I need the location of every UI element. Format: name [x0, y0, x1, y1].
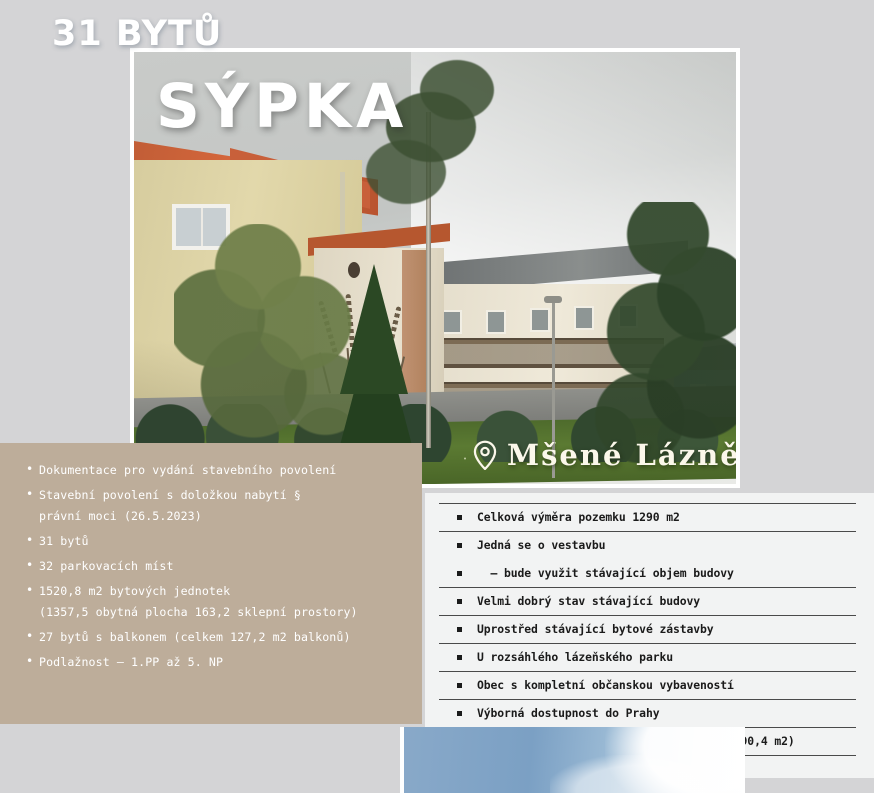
birch-canopy — [366, 140, 446, 204]
feature-text: Obec s kompletní občanskou vybaveností — [477, 678, 734, 692]
page-title: SÝPKA — [156, 76, 408, 137]
photo-card: SÝPKA Mšené Lázně — [130, 48, 740, 488]
bullet-text: Stavební povolení s doložkou nabytí § — [39, 488, 301, 502]
bullet-text: 32 parkovacích míst — [39, 559, 174, 573]
bullet-text: 31 bytů — [39, 534, 89, 548]
list-item-continuation: právní moci (26.5.2023) — [26, 507, 408, 526]
building-window — [486, 310, 506, 334]
building-window — [530, 308, 550, 332]
bullet-continuation-text: právní moci (26.5.2023) — [39, 509, 202, 523]
summary-panel: Dokumentace pro vydání stavebního povole… — [0, 443, 422, 724]
street-lamp-head — [544, 296, 562, 303]
list-item-continuation: (1357,5 obytná plocha 163,2 sklepní pros… — [26, 603, 408, 622]
table-row: Obec s kompletní občanskou vybaveností — [439, 671, 856, 699]
list-item: 27 bytů s balkonem (celkem 127,2 m2 balk… — [26, 628, 408, 647]
location-label: Mšené Lázně — [472, 438, 736, 472]
right-tree — [552, 202, 736, 472]
table-row: U rozsáhlého lázeňského parku — [439, 643, 856, 671]
list-item: 31 bytů — [26, 532, 408, 551]
table-row: – bude využit stávající objem budovy — [439, 559, 856, 587]
property-photo: SÝPKA Mšené Lázně — [134, 52, 736, 484]
bullet-text: Podlažnost – 1.PP až 5. NP — [39, 655, 223, 669]
feature-text: – bude využit stávající objem budovy — [477, 566, 734, 580]
conifer-tree — [340, 264, 408, 394]
list-item: 1520,8 m2 bytových jednotek — [26, 582, 408, 601]
table-row: Velmi dobrý stav stávající budovy — [439, 587, 856, 615]
list-item: Stavební povolení s doložkou nabytí § — [26, 486, 408, 505]
summary-bullet-list: Dokumentace pro vydání stavebního povole… — [0, 443, 422, 672]
table-row: Celková výměra pozemku 1290 m2 — [439, 503, 856, 531]
table-row: Jedná se o vestavbu — [439, 531, 856, 559]
banner-headline: 31 BYTŮ — [52, 14, 222, 54]
birch-canopy — [420, 60, 494, 120]
building-window — [442, 310, 462, 334]
table-row: Výborná dostupnost do Prahy — [439, 699, 856, 727]
banner-cloud-decoration — [550, 755, 730, 793]
table-row: Uprostřed stávající bytové zástavby — [439, 615, 856, 643]
location-text: Mšené Lázně — [507, 438, 736, 472]
feature-text: Velmi dobrý stav stávající budovy — [477, 594, 700, 608]
features-list: Celková výměra pozemku 1290 m2 Jedná se … — [425, 493, 874, 756]
banner-left-divider — [400, 727, 404, 793]
feature-text: Jedná se o vestavbu — [477, 538, 605, 552]
bullet-text: 27 bytů s balkonem (celkem 127,2 m2 balk… — [39, 630, 351, 644]
bullet-text: 1520,8 m2 bytových jednotek — [39, 584, 230, 598]
feature-text: U rozsáhlého lázeňského parku — [477, 650, 673, 664]
feature-text: Celková výměra pozemku 1290 m2 — [477, 510, 680, 524]
map-pin-icon — [472, 440, 498, 470]
bottom-banner — [400, 727, 745, 793]
feature-text: Výborná dostupnost do Prahy — [477, 706, 659, 720]
bullet-text: Dokumentace pro vydání stavebního povole… — [39, 463, 336, 477]
feature-text: Uprostřed stávající bytové zástavby — [477, 622, 714, 636]
list-item: 32 parkovacích míst — [26, 557, 408, 576]
list-item: Podlažnost – 1.PP až 5. NP — [26, 653, 408, 672]
list-item: Dokumentace pro vydání stavebního povole… — [26, 461, 408, 480]
bullet-continuation-text: (1357,5 obytná plocha 163,2 sklepní pros… — [39, 605, 358, 619]
